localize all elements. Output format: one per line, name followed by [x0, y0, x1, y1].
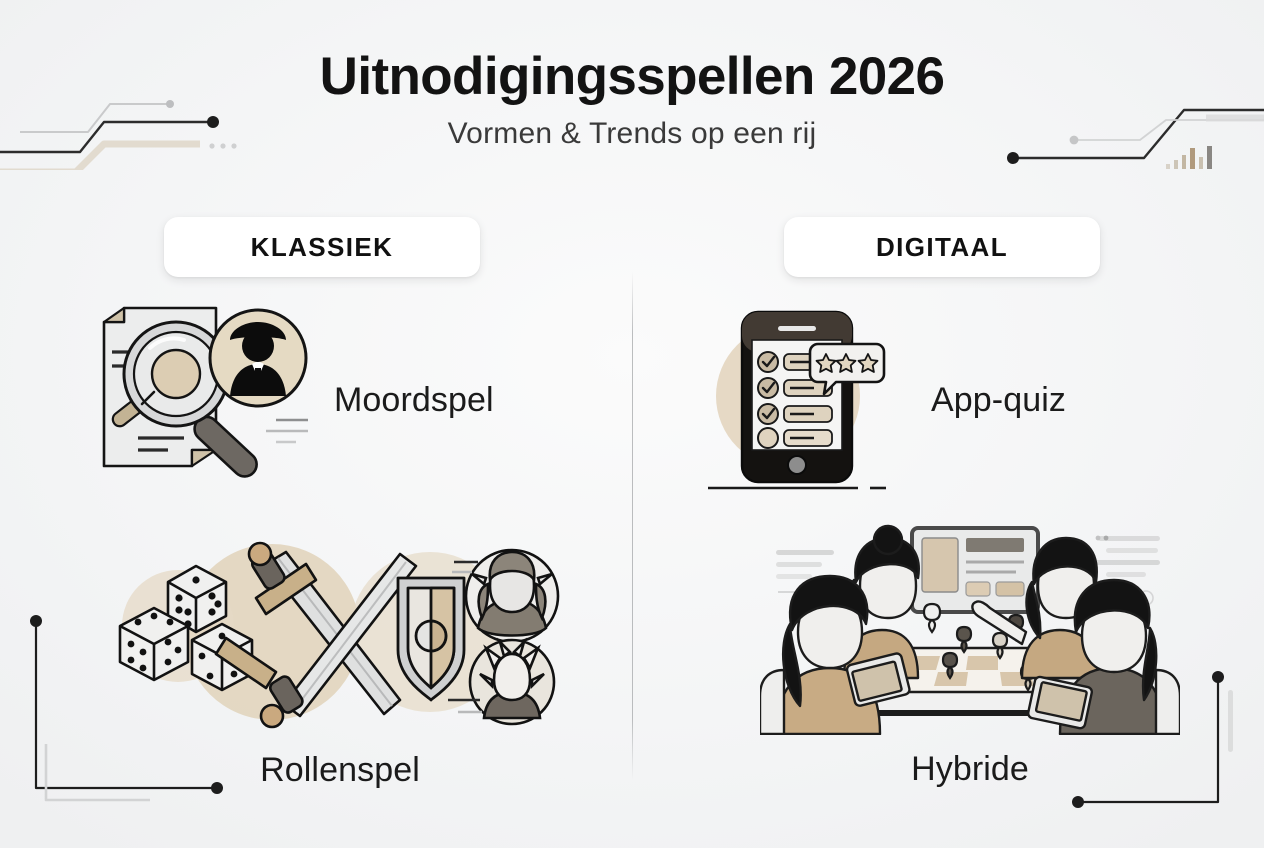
column-badge-klassiek[interactable]: KLASSIEK — [164, 217, 480, 277]
item-appquiz-label: App-quiz — [931, 381, 1066, 420]
item-hybride-label: Hybride — [911, 750, 1029, 789]
poster-header: Uitnodigingsspellen 2026 Vormen & Trends… — [0, 48, 1264, 151]
smartphone-quiz-icon — [690, 300, 905, 500]
column-badge-digitaal-label: DIGITAAL — [876, 232, 1008, 263]
page-subtitle: Vormen & Trends op een rij — [0, 117, 1264, 151]
item-appquiz[interactable]: App-quiz — [690, 300, 1190, 500]
column-badge-digitaal[interactable]: DIGITAAL — [784, 217, 1100, 277]
item-rollenspel-label: Rollenspel — [260, 751, 420, 790]
item-hybride[interactable]: Hybride — [740, 520, 1200, 800]
item-moordspel[interactable]: Moordspel — [80, 300, 600, 500]
boardgame-table-people-screen-icon — [760, 520, 1180, 740]
dice-swords-shield-characters-icon — [100, 540, 580, 735]
column-divider — [632, 272, 633, 780]
detective-magnifier-document-icon — [80, 300, 310, 500]
item-rollenspel[interactable]: Rollenspel — [70, 540, 610, 800]
page-title: Uitnodigingsspellen 2026 — [0, 48, 1264, 105]
item-moordspel-label: Moordspel — [334, 381, 494, 420]
infographic-poster: Uitnodigingsspellen 2026 Vormen & Trends… — [0, 0, 1264, 848]
column-badge-klassiek-label: KLASSIEK — [251, 232, 394, 263]
